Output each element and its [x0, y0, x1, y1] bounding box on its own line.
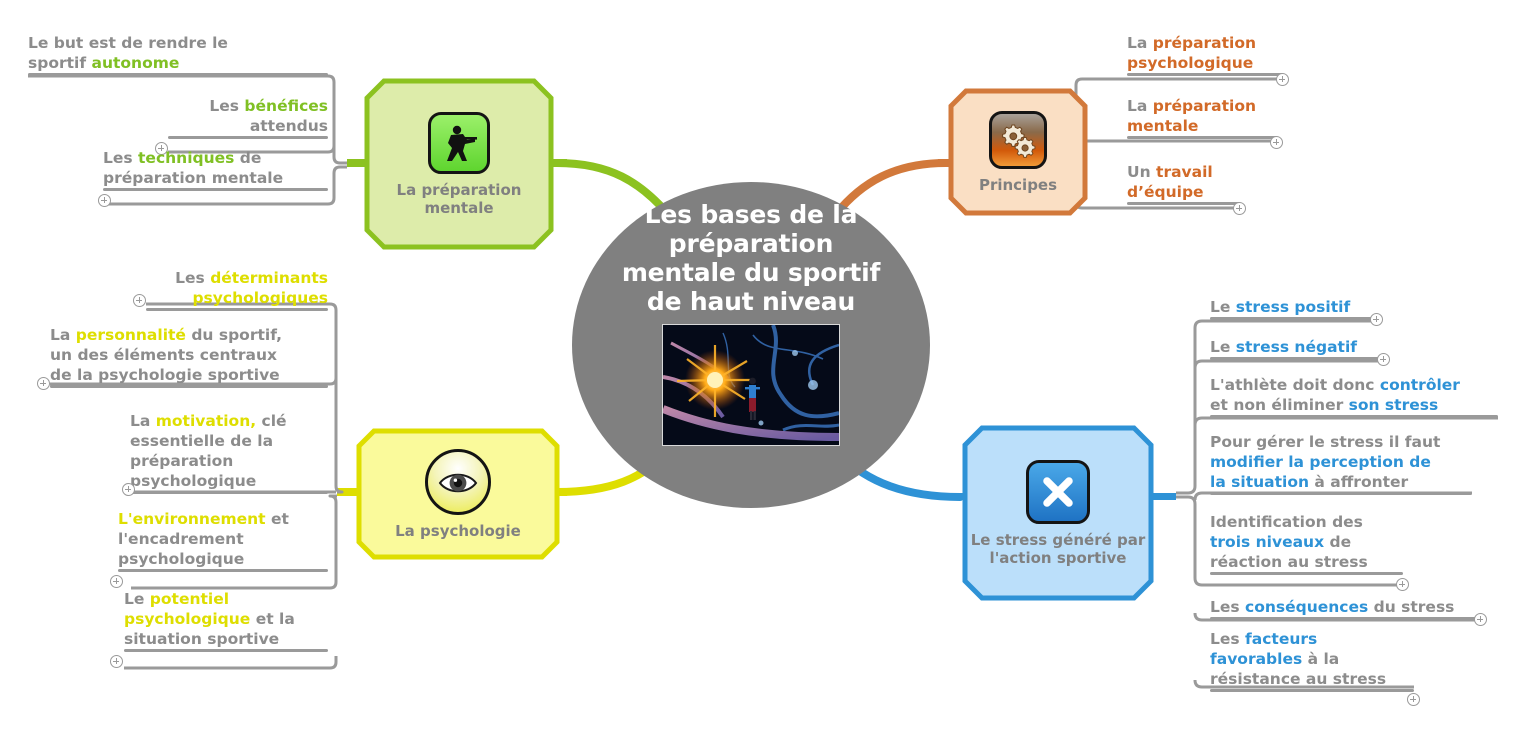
expand-plus-icon[interactable]	[110, 575, 123, 588]
spine-orange-2	[1076, 141, 1277, 147]
leaf-text: L'athlète doit donc contrôler et non éli…	[1210, 375, 1498, 415]
spine-blue-2	[1195, 361, 1379, 368]
expand-plus-icon[interactable]	[110, 655, 123, 668]
spine-yellow-5	[124, 656, 336, 668]
branch-label-psychologie: La psychologie	[395, 522, 521, 540]
leaf-underline	[1127, 202, 1240, 205]
leaf-underline	[1210, 572, 1403, 575]
spine-blue-3	[1195, 418, 1498, 425]
leaf-underline	[118, 569, 328, 572]
branch-label-principes: Principes	[979, 176, 1057, 194]
leaf-text: La préparation mentale	[1127, 96, 1277, 136]
leaf-underline	[28, 73, 328, 76]
list-item[interactable]: Les techniques de préparation mentale	[103, 148, 328, 191]
leaf-underline	[103, 188, 328, 191]
leaf-text: La préparation psychologique	[1127, 33, 1283, 73]
leaf-text: La personnalité du sportif, un des éléme…	[50, 325, 328, 385]
expand-plus-icon[interactable]	[1396, 578, 1409, 591]
branch-label-stress: Le stress généré par l'action sportive	[962, 531, 1154, 567]
expand-plus-icon[interactable]	[1270, 136, 1283, 149]
list-item[interactable]: Le stress positif	[1210, 297, 1372, 320]
leaf-text: Les facteurs favorables à la résistance …	[1210, 629, 1414, 689]
leaf-text: Les conséquences du stress	[1210, 597, 1481, 617]
leaf-underline	[124, 649, 328, 652]
list-item[interactable]: Le potentiel psychologique et la situati…	[124, 589, 328, 652]
list-item[interactable]: La préparation psychologique	[1127, 33, 1283, 76]
leaf-text: Le stress négatif	[1210, 337, 1379, 357]
leaf-underline	[50, 385, 328, 388]
central-topic-node[interactable]: Les bases de la préparation mentale du s…	[572, 182, 930, 508]
leaf-text: Le but est de rendre le sportif autonome	[28, 33, 328, 73]
branch-node-principes[interactable]: Principes	[948, 88, 1088, 216]
leaf-text: Les bénéfices attendus	[168, 96, 328, 136]
list-item[interactable]: L'environnement et l'encadrement psychol…	[118, 509, 328, 572]
leaf-underline	[1127, 73, 1283, 76]
expand-plus-icon[interactable]	[1377, 353, 1390, 366]
list-item[interactable]: L'athlète doit donc contrôler et non éli…	[1210, 375, 1498, 418]
leaf-text: Les techniques de préparation mentale	[103, 148, 328, 188]
list-item[interactable]: La personnalité du sportif, un des éléme…	[50, 325, 328, 388]
leaf-text: Un travail d’équipe	[1127, 162, 1240, 202]
leaf-underline	[146, 308, 328, 311]
list-item[interactable]: Les bénéfices attendus	[168, 96, 328, 139]
gears-icon	[989, 111, 1047, 169]
expand-plus-icon[interactable]	[122, 483, 135, 496]
branch-node-preparation-mentale[interactable]: La préparation mentale	[364, 78, 554, 250]
central-neuron-image	[662, 324, 840, 446]
expand-plus-icon[interactable]	[98, 194, 111, 207]
list-item[interactable]: Le but est de rendre le sportif autonome	[28, 33, 328, 76]
leaf-underline	[130, 491, 328, 494]
list-item[interactable]: Le stress négatif	[1210, 337, 1379, 360]
leaf-text: Le potentiel psychologique et la situati…	[124, 589, 328, 649]
leaf-text: Le stress positif	[1210, 297, 1372, 317]
leaf-text: La motivation, clé essentielle de la pré…	[130, 411, 328, 491]
list-item[interactable]: Les facteurs favorables à la résistance …	[1210, 629, 1414, 692]
leaf-underline	[1210, 317, 1372, 320]
x-cross-icon	[1026, 460, 1090, 524]
mindmap-canvas: Les bases de la préparation mentale du s…	[0, 0, 1536, 740]
list-item[interactable]: La motivation, clé essentielle de la pré…	[130, 411, 328, 494]
leaf-underline	[1210, 357, 1379, 360]
branch-node-stress[interactable]: Le stress généré par l'action sportive	[962, 425, 1154, 601]
expand-plus-icon[interactable]	[1370, 313, 1383, 326]
list-item[interactable]: Un travail d’équipe	[1127, 162, 1240, 205]
branch-node-psychologie[interactable]: La psychologie	[356, 428, 560, 560]
leaf-underline	[1127, 136, 1277, 139]
expand-plus-icon[interactable]	[1276, 73, 1289, 86]
branch-label-preparation-mentale: La préparation mentale	[364, 181, 554, 217]
leaf-text: Pour gérer le stress il faut modifier la…	[1210, 432, 1472, 492]
list-item[interactable]: Pour gérer le stress il faut modifier la…	[1210, 432, 1472, 495]
page-title: Les bases de la préparation mentale du s…	[621, 200, 881, 316]
leaf-text: L'environnement et l'encadrement psychol…	[118, 509, 328, 569]
leaf-underline	[168, 136, 328, 139]
leaf-underline	[1210, 617, 1481, 620]
list-item[interactable]: Les conséquences du stress	[1210, 597, 1481, 620]
soldier-icon	[428, 112, 490, 174]
leaf-underline	[1210, 492, 1472, 495]
eye-icon	[425, 449, 491, 515]
list-item[interactable]: La préparation mentale	[1127, 96, 1277, 139]
leaf-text: Les déterminants psychologiques	[146, 268, 328, 308]
expand-plus-icon[interactable]	[1407, 693, 1420, 706]
leaf-text: Identification des trois niveaux de réac…	[1210, 512, 1403, 572]
expand-plus-icon[interactable]	[133, 294, 146, 307]
expand-plus-icon[interactable]	[1474, 613, 1487, 626]
list-item[interactable]: Identification des trois niveaux de réac…	[1210, 512, 1403, 575]
expand-plus-icon[interactable]	[1233, 202, 1246, 215]
list-item[interactable]: Les déterminants psychologiques	[146, 268, 328, 311]
expand-plus-icon[interactable]	[37, 377, 50, 390]
leaf-underline	[1210, 415, 1498, 418]
leaf-underline	[1210, 689, 1414, 692]
